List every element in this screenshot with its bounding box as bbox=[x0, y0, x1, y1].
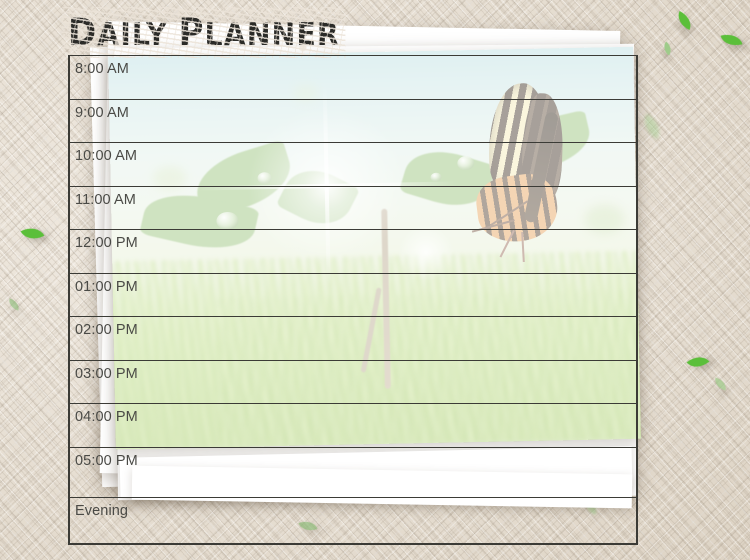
time-label: 01:00 PM bbox=[75, 279, 138, 295]
table-row[interactable]: 04:00 PM bbox=[68, 403, 638, 447]
time-label: 11:00 AM bbox=[75, 192, 136, 208]
table-row[interactable]: 02:00 PM bbox=[68, 316, 638, 360]
time-label: 8:00 AM bbox=[75, 61, 129, 77]
time-label: 10:00 AM bbox=[75, 148, 137, 164]
table-row[interactable]: 12:00 PM bbox=[68, 229, 638, 273]
table-row[interactable]: 03:00 PM bbox=[68, 360, 638, 404]
table-row-evening[interactable]: Evening bbox=[68, 497, 638, 545]
title-rest-aily: AILY bbox=[97, 17, 167, 53]
table-row[interactable]: 9:00 AM bbox=[68, 99, 638, 143]
table-row[interactable]: 8:00 AM bbox=[68, 55, 638, 99]
time-label: 12:00 PM bbox=[75, 235, 138, 251]
title-cap-p: P bbox=[179, 11, 205, 54]
table-row[interactable]: 01:00 PM bbox=[68, 273, 638, 317]
time-label: 05:00 PM bbox=[75, 453, 138, 469]
title-cap-d: D bbox=[68, 11, 97, 54]
title-rest-lanner: LANNER bbox=[205, 17, 340, 53]
time-label: 04:00 PM bbox=[75, 409, 138, 425]
time-label: 02:00 PM bbox=[75, 322, 138, 338]
table-row[interactable]: 10:00 AM bbox=[68, 142, 638, 186]
table-row[interactable]: 11:00 AM bbox=[68, 186, 638, 230]
time-label: 03:00 PM bbox=[75, 366, 138, 382]
evening-label: Evening bbox=[75, 503, 128, 519]
table-row[interactable]: 05:00 PM bbox=[68, 447, 638, 491]
table-bottom-border bbox=[68, 543, 638, 545]
page-title: DAILY PLANNER bbox=[68, 11, 340, 54]
time-label: 9:00 AM bbox=[75, 105, 129, 121]
table-spacer bbox=[68, 490, 638, 497]
planner-table: 8:00 AM 9:00 AM 10:00 AM 11:00 AM 12:00 … bbox=[68, 55, 638, 545]
